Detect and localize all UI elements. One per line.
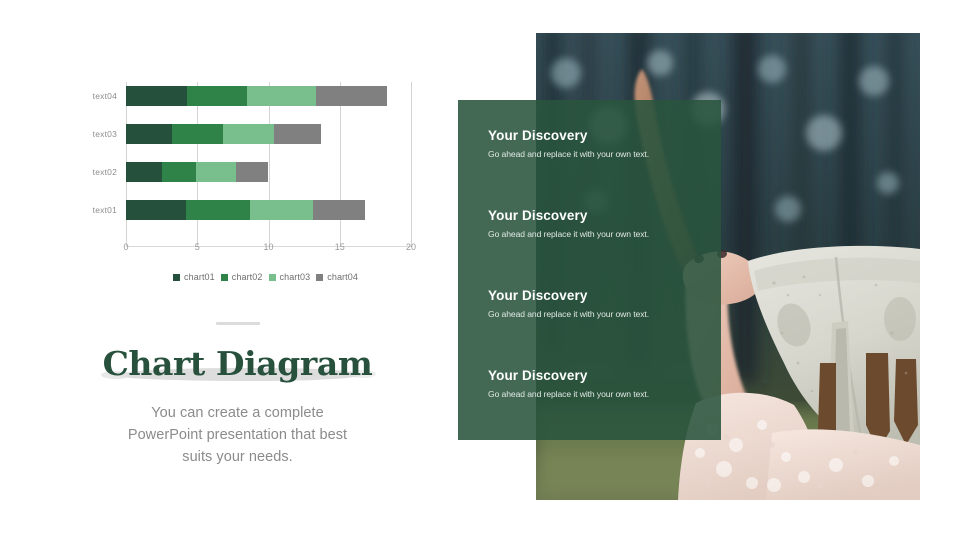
chart-segment-chart04 — [236, 162, 269, 182]
chart-segment-chart04 — [274, 124, 321, 144]
legend-label: chart04 — [327, 272, 358, 282]
legend-swatch-icon — [173, 274, 180, 281]
chart-category-label: text02 — [93, 167, 117, 177]
chart-segment-chart04 — [316, 86, 387, 106]
chart-segment-chart02 — [162, 162, 196, 182]
discovery-description: Go ahead and replace it with your own te… — [488, 309, 703, 319]
title-block: Chart Diagram You can create a complete … — [60, 322, 415, 468]
chart-segment-chart03 — [196, 162, 236, 182]
chart-segment-chart02 — [186, 200, 250, 220]
discovery-block: Your DiscoveryGo ahead and replace it wi… — [488, 208, 703, 239]
discovery-block: Your DiscoveryGo ahead and replace it wi… — [488, 128, 703, 159]
legend-label: chart03 — [280, 272, 311, 282]
discovery-block: Your DiscoveryGo ahead and replace it wi… — [488, 288, 703, 319]
page-title: Chart Diagram — [103, 347, 373, 380]
chart-bar-text03: text03 — [126, 124, 321, 144]
chart-segment-chart03 — [250, 200, 313, 220]
chart-segment-chart01 — [126, 200, 186, 220]
legend-swatch-icon — [221, 274, 228, 281]
legend-item-chart03[interactable]: chart03 — [269, 272, 317, 282]
discovery-block: Your DiscoveryGo ahead and replace it wi… — [488, 368, 703, 399]
chart-x-tick-label: 15 — [335, 242, 345, 252]
legend-label: chart01 — [184, 272, 215, 282]
chart-plot-area: text04text03text02text01 — [126, 82, 411, 247]
discovery-description: Go ahead and replace it with your own te… — [488, 389, 703, 399]
chart-segment-chart02 — [187, 86, 247, 106]
chart-gridline — [340, 82, 341, 247]
chart-x-tick-label: 20 — [406, 242, 416, 252]
chart-category-label: text03 — [93, 129, 117, 139]
discovery-title: Your Discovery — [488, 208, 703, 223]
legend-item-chart02[interactable]: chart02 — [221, 272, 269, 282]
chart-category-label: text01 — [93, 205, 117, 215]
chart-bar-text02: text02 — [126, 162, 268, 182]
discovery-description: Go ahead and replace it with your own te… — [488, 149, 703, 159]
chart-segment-chart02 — [172, 124, 223, 144]
legend-swatch-icon — [269, 274, 276, 281]
discovery-title: Your Discovery — [488, 128, 703, 143]
chart-segment-chart03 — [223, 124, 274, 144]
chart-gridline — [269, 82, 270, 247]
chart-x-tick-label: 5 — [195, 242, 200, 252]
chart-bar-text01: text01 — [126, 200, 365, 220]
page-subtitle: You can create a complete PowerPoint pre… — [113, 402, 363, 468]
chart-segment-chart04 — [313, 200, 366, 220]
chart-segment-chart01 — [126, 86, 187, 106]
legend-label: chart02 — [232, 272, 263, 282]
chart-x-tick-label: 0 — [123, 242, 128, 252]
chart-legend: chart01chart02chart03chart04 — [126, 272, 411, 282]
chart-category-label: text04 — [93, 91, 117, 101]
discovery-panel: Your DiscoveryGo ahead and replace it wi… — [458, 100, 721, 440]
discovery-title: Your Discovery — [488, 288, 703, 303]
chart-bar-text04: text04 — [126, 86, 387, 106]
title-divider — [216, 322, 260, 325]
discovery-title: Your Discovery — [488, 368, 703, 383]
discovery-description: Go ahead and replace it with your own te… — [488, 229, 703, 239]
chart-x-tick-label: 10 — [263, 242, 273, 252]
chart-segment-chart03 — [247, 86, 315, 106]
title-wrapper: Chart Diagram — [103, 347, 373, 380]
legend-swatch-icon — [316, 274, 323, 281]
chart-segment-chart01 — [126, 162, 162, 182]
chart-segment-chart01 — [126, 124, 172, 144]
bar-chart: text04text03text02text01 chart01chart02c… — [60, 70, 430, 300]
legend-item-chart01[interactable]: chart01 — [173, 272, 221, 282]
legend-item-chart04[interactable]: chart04 — [316, 272, 364, 282]
chart-gridline — [411, 82, 412, 247]
